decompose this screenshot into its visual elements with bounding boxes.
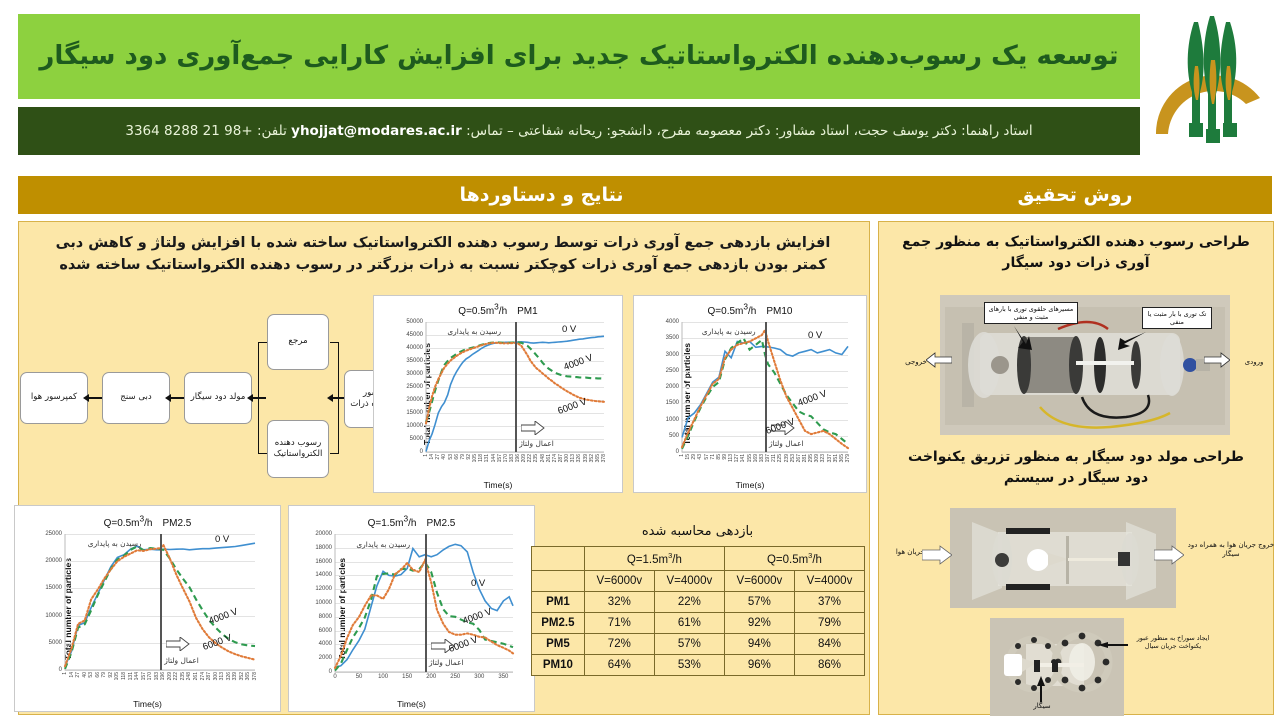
chart-y-tick: 1000 — [666, 417, 679, 423]
chart-plot-area: 0200040006000800010000120001400016000180… — [335, 534, 513, 672]
chart-x-tick: 248 — [186, 672, 192, 680]
chart-series-label-0v: 0 V — [808, 330, 822, 341]
chart-x-tick: 144 — [134, 672, 140, 680]
table-cell: 86% — [794, 654, 864, 675]
chart-x-tick: 131 — [484, 454, 490, 462]
chart-x-tick: 169 — [753, 454, 759, 462]
chart-x-tick: 339 — [232, 672, 238, 680]
chart-x-axis-label: Time(s) — [634, 480, 866, 490]
chart-y-tick: 45000 — [406, 332, 423, 338]
chart-x-tick: 267 — [796, 454, 802, 462]
table-row: PM10 64% 53% 96% 86% — [532, 654, 865, 675]
chart-voltage-arrow-icon — [166, 637, 190, 651]
chart-x-tick: 71 — [710, 454, 716, 460]
chart-x-tick: 235 — [533, 454, 539, 462]
chart-voltage-application-line — [160, 534, 162, 670]
table-subhdr-0 — [532, 570, 585, 591]
table-header-row-groups: Q=1.5m3/h Q=0.5m3/h — [532, 547, 865, 571]
chart-x-tick: 365 — [839, 454, 845, 462]
authors-band: استاد راهنما: دکتر یوسف حجت، استاد مشاور… — [18, 107, 1140, 155]
chart-x-axis-label: Time(s) — [374, 480, 622, 490]
chart-title: Q=1.5m3/hPM2.5 — [289, 514, 534, 529]
chart-y-tick: 5000 — [49, 640, 62, 646]
chart-y-tick: 10000 — [406, 423, 423, 429]
chart-x-tick: 43 — [697, 454, 703, 460]
photo1-callout-mesh-rings: مسیرهای حلقوی توری با بارهای مثبت و منفی — [984, 302, 1078, 324]
table-cell: 22% — [654, 591, 724, 612]
chart-annotation-steady-state: رسیدن به پایداری — [702, 327, 756, 336]
results-headline-line1: افزایش بازدهی جمع آوری ذرات توسط رسوب ده… — [30, 232, 856, 254]
photo1-label-inlet: ورودی — [1232, 358, 1276, 367]
table-cell: 94% — [724, 633, 794, 654]
chart-x-tick: 0 — [333, 674, 336, 680]
chart-x-tick: 274 — [200, 672, 206, 680]
chart-x-tick: 200 — [426, 674, 436, 680]
chart-annotation-voltage-applied: اعمال ولتاژ — [429, 658, 464, 667]
chart-x-tick: 50 — [356, 674, 363, 680]
chart-x-tick: 326 — [226, 672, 232, 680]
flow-box-esp: رسوب دهنده الکترواستاتیک — [267, 420, 329, 478]
flow-bracket-left — [258, 342, 267, 454]
flow-box-compressor: کمپرسور هوا — [20, 372, 88, 424]
chart-x-tick: 300 — [213, 672, 219, 680]
chart-y-tick: 14000 — [315, 572, 332, 578]
poster-root: توسعه یک رسوب‌دهنده الکترواستاتیک جدید ب… — [0, 0, 1280, 720]
chart-y-tick: 2500 — [666, 368, 679, 374]
chart-y-tick: 35000 — [406, 358, 423, 364]
chart-x-tick: 379 — [845, 454, 851, 462]
chart-x-tick: 350 — [498, 674, 508, 680]
chart-title: Q=0.5m3/hPM10 — [634, 302, 866, 317]
chart-pm10: Q=0.5m3/hPM10Total number of particlesTi… — [633, 295, 867, 493]
chart-x-tick: 85 — [716, 454, 722, 460]
photo-smoke-generator-illustration — [950, 508, 1176, 608]
chart-annotation-voltage-applied: اعمال ولتاژ — [769, 439, 804, 448]
chart-x-tick: 352 — [589, 454, 595, 462]
chart-x-tick: 1 — [62, 672, 68, 675]
table-cell: 57% — [724, 591, 794, 612]
photo3-arrow-to-holes — [1098, 640, 1128, 650]
chart-annotation-steady-state: رسیدن به پایداری — [88, 539, 142, 548]
table-subhdr-4: V=4000v — [794, 570, 864, 591]
chart-x-tick: 105 — [114, 672, 120, 680]
photo2-label-air-outlet: خروج جریان هوا به همراه دود سیگار — [1186, 541, 1276, 559]
chart-pm25-q15: Q=1.5m3/hPM2.5Total number of particlesT… — [288, 505, 535, 712]
chart-x-tick: 100 — [378, 674, 388, 680]
chart-y-tick: 3000 — [666, 352, 679, 358]
chart-x-tick: 157 — [141, 672, 147, 680]
chart-title: Q=0.5m3/hPM1 — [374, 302, 622, 317]
chart-x-tick: 248 — [540, 454, 546, 462]
chart-annotation-voltage-applied: اعمال ولتاژ — [519, 439, 554, 448]
chart-y-tick: 18000 — [315, 545, 332, 551]
chart-x-tick: 352 — [239, 672, 245, 680]
method-caption-2: طراحی مولد دود سیگار به منظور تزریق یکنو… — [896, 447, 1256, 489]
chart-x-tick: 261 — [546, 454, 552, 462]
chart-x-tick: 170 — [147, 672, 153, 680]
chart-x-tick: 118 — [121, 672, 127, 680]
chart-x-tick: 79 — [101, 672, 107, 678]
chart-x-tick: 141 — [740, 454, 746, 462]
authors-line: استاد راهنما: دکتر یوسف حجت، استاد مشاور… — [125, 123, 1032, 139]
chart-x-tick: 144 — [491, 454, 497, 462]
chart-y-tick: 12000 — [315, 586, 332, 592]
authors-names: استاد راهنما: دکتر یوسف حجت، استاد مشاور… — [466, 123, 1033, 139]
chart-y-tick: 5000 — [410, 436, 423, 442]
flow-arrow-4 — [332, 397, 344, 399]
chart-y-tick: 20000 — [45, 558, 62, 564]
chart-x-tick: 365 — [245, 672, 251, 680]
chart-series-label-0v: 0 V — [215, 534, 229, 545]
chart-x-tick: 66 — [95, 672, 101, 678]
chart-x-tick: 313 — [219, 672, 225, 680]
chart-y-tick: 1500 — [666, 400, 679, 406]
chart-x-tick: 66 — [454, 454, 460, 460]
chart-y-tick: 6000 — [319, 628, 332, 634]
table-cell: 32% — [584, 591, 654, 612]
chart-x-tick: 157 — [497, 454, 503, 462]
chart-y-tick: 3500 — [666, 335, 679, 341]
chart-y-tick: 16000 — [315, 559, 332, 565]
table-cell: 53% — [654, 654, 724, 675]
table-group-header-q05: Q=0.5m3/h — [724, 547, 864, 571]
chart-x-tick: 326 — [576, 454, 582, 462]
chart-x-tick: 225 — [777, 454, 783, 462]
chart-x-tick: 57 — [704, 454, 710, 460]
page-title: توسعه یک رسوب‌دهنده الکترواستاتیک جدید ب… — [29, 40, 1128, 73]
chart-x-axis-label: Time(s) — [289, 699, 534, 709]
table-row-label-pm5: PM5 — [532, 633, 585, 654]
photo-smoke-generator — [950, 508, 1176, 608]
chart-y-tick: 4000 — [319, 641, 332, 647]
chart-x-tick: 365 — [595, 454, 601, 462]
chart-x-tick: 14 — [69, 672, 75, 678]
chart-x-tick: 79 — [460, 454, 466, 460]
chart-y-tick: 2000 — [666, 384, 679, 390]
table-row: PM2.5 71% 61% 92% 79% — [532, 612, 865, 633]
chart-x-tick: 40 — [82, 672, 88, 678]
chart-x-tick: 155 — [747, 454, 753, 462]
chart-x-tick: 209 — [167, 672, 173, 680]
section-header-results-label: نتایج و دستاوردها — [459, 184, 623, 206]
table-subhdr-2: V=4000v — [654, 570, 724, 591]
photo2-outlet-arrow — [1154, 545, 1184, 565]
chart-voltage-application-line — [425, 534, 427, 672]
photo3-arrow-to-cigarette — [1036, 676, 1046, 702]
table-group-header-q15: Q=1.5m3/h — [584, 547, 724, 571]
table-cell: 72% — [584, 633, 654, 654]
results-headline: افزایش بازدهی جمع آوری ذرات توسط رسوب ده… — [30, 232, 856, 277]
photo3-label-cigarette: سیگار — [1022, 702, 1062, 711]
photo1-outlet-arrow — [926, 352, 952, 368]
chart-x-tick: 323 — [820, 454, 826, 462]
section-header-method: روش تحقیق — [878, 176, 1272, 214]
table-cell: 84% — [794, 633, 864, 654]
chart-x-axis-label: Time(s) — [15, 699, 280, 709]
flow-box-smoke-generator: مولد دود سیگار — [184, 372, 252, 424]
photo1-callout-single-mesh: تک توری با بار مثبت یا منفی — [1142, 307, 1212, 329]
chart-x-tick: 378 — [252, 672, 258, 680]
chart-y-tick: 40000 — [406, 345, 423, 351]
table-row-label-pm10: PM10 — [532, 654, 585, 675]
title-band: توسعه یک رسوب‌دهنده الکترواستاتیک جدید ب… — [18, 14, 1140, 99]
method-caption-1: طراحی رسوب دهنده الکترواستاتیک به منظور … — [896, 232, 1256, 274]
chart-pm25-q05: Q=0.5m3/hPM2.5Total number of particlesT… — [14, 505, 281, 712]
table-cell: 64% — [584, 654, 654, 675]
chart-series-label-0v: 0 V — [471, 578, 485, 589]
chart-x-tick: 196 — [160, 672, 166, 680]
chart-series-label-0v: 0 V — [562, 324, 576, 335]
photo1-arrow-to-mesh-rings — [1012, 326, 1034, 352]
table-header-row-sub: V=6000v V=4000v V=6000v V=4000v — [532, 570, 865, 591]
chart-title: Q=0.5m3/hPM2.5 — [15, 514, 280, 529]
photo3-callout-holes: ایجاد سوراخ به منظور عبور یکنواخت جریان … — [1128, 632, 1218, 652]
chart-x-tick: 351 — [833, 454, 839, 462]
chart-voltage-application-line — [515, 322, 517, 452]
table-cell: 79% — [794, 612, 864, 633]
flow-box-flowmeter: دبی سنج — [102, 372, 170, 424]
chart-x-tick: 250 — [450, 674, 460, 680]
table-row-label-pm25: PM2.5 — [532, 612, 585, 633]
chart-y-tick: 2000 — [319, 655, 332, 661]
phone-label: تلفن: — [257, 123, 287, 139]
chart-y-tick: 10000 — [315, 600, 332, 606]
chart-x-tick: 131 — [128, 672, 134, 680]
table-title: بازدهی محاسبه شده — [525, 524, 870, 539]
chart-y-tick: 15000 — [45, 585, 62, 591]
chart-x-tick: 337 — [827, 454, 833, 462]
chart-plot-area: 0500010000150002000025000114274053667992… — [65, 534, 255, 670]
chart-annotation-steady-state: رسیدن به پایداری — [447, 327, 501, 336]
chart-y-tick: 20000 — [315, 531, 332, 537]
chart-x-tick: 239 — [784, 454, 790, 462]
table-corner-cell — [532, 547, 585, 571]
flow-arrow-2 — [170, 397, 184, 399]
table-subhdr-1: V=6000v — [584, 570, 654, 591]
chart-plot-area: 0500010000150002000025000300003500040000… — [426, 322, 604, 452]
chart-x-tick: 300 — [474, 674, 484, 680]
chart-y-tick: 25000 — [45, 531, 62, 537]
chart-annotation-steady-state: رسیدن به پایداری — [356, 540, 410, 549]
chart-x-tick: 170 — [503, 454, 509, 462]
chart-plot-area: 0500100015002000250030003500400011529435… — [682, 322, 848, 452]
chart-x-tick: 183 — [154, 672, 160, 680]
logo-icon — [1142, 6, 1280, 166]
chart-x-tick: 378 — [601, 454, 607, 462]
table-cell: 57% — [654, 633, 724, 654]
chart-pm1: Q=0.5m3/hPM1Total number of particlesTim… — [373, 295, 623, 493]
contact-email[interactable]: yhojjat@modares.ac.ir — [291, 123, 462, 139]
chart-x-tick: 274 — [552, 454, 558, 462]
chart-y-tick: 8000 — [319, 614, 332, 620]
chart-x-tick: 40 — [441, 454, 447, 460]
table-cell: 71% — [584, 612, 654, 633]
chart-x-tick: 53 — [448, 454, 454, 460]
table-row-label-pm1: PM1 — [532, 591, 585, 612]
chart-y-tick: 30000 — [406, 371, 423, 377]
chart-x-tick: 287 — [206, 672, 212, 680]
chart-y-tick: 15000 — [406, 410, 423, 416]
chart-x-tick: 53 — [88, 672, 94, 678]
chart-x-tick: 253 — [790, 454, 796, 462]
section-header-method-label: روش تحقیق — [1018, 184, 1133, 206]
poster-header: توسعه یک رسوب‌دهنده الکترواستاتیک جدید ب… — [0, 0, 1280, 165]
table-row: PM1 32% 22% 57% 37% — [532, 591, 865, 612]
results-headline-line2: کمتر بودن بازدهی جمع آوری ذرات کوچکتر نس… — [30, 254, 856, 276]
chart-y-tick: 4000 — [666, 319, 679, 325]
chart-y-tick: 20000 — [406, 397, 423, 403]
photo2-inlet-arrow — [922, 545, 952, 565]
phone-number: +98 21 8288 3364 — [125, 123, 252, 139]
chart-x-tick: 92 — [108, 672, 114, 678]
efficiency-table: Q=1.5m3/h Q=0.5m3/h V=6000v V=4000v V=60… — [531, 546, 865, 676]
chart-x-tick: 150 — [402, 674, 412, 680]
university-logo: دانشگاه تربیت مدرس — [1142, 6, 1280, 166]
chart-x-tick: 222 — [173, 672, 179, 680]
chart-x-tick: 339 — [583, 454, 589, 462]
chart-voltage-arrow-icon — [521, 421, 545, 435]
chart-x-tick: 261 — [193, 672, 199, 680]
table-cell: 96% — [724, 654, 794, 675]
chart-y-tick: 25000 — [406, 384, 423, 390]
chart-x-tick: 27 — [75, 672, 81, 678]
table-cell: 61% — [654, 612, 724, 633]
table-cell: 92% — [724, 612, 794, 633]
chart-annotation-voltage-applied: اعمال ولتاژ — [164, 656, 199, 665]
table-cell: 37% — [794, 591, 864, 612]
chart-y-tick: 50000 — [406, 319, 423, 325]
table-row: PM5 72% 57% 94% 84% — [532, 633, 865, 654]
flow-box-reference: مرجع — [267, 314, 329, 370]
photo1-arrow-to-single-mesh — [1116, 330, 1146, 352]
table-subhdr-3: V=6000v — [724, 570, 794, 591]
experimental-setup-flow-diagram: کمپرسور هوا دبی سنج مولد دود سیگار مرجع … — [14, 296, 370, 492]
chart-y-tick: 0 — [329, 669, 332, 675]
chart-y-tick: 500 — [669, 433, 679, 439]
flow-arrow-1 — [88, 397, 102, 399]
photo1-inlet-arrow — [1204, 352, 1230, 368]
chart-y-tick: 10000 — [45, 613, 62, 619]
